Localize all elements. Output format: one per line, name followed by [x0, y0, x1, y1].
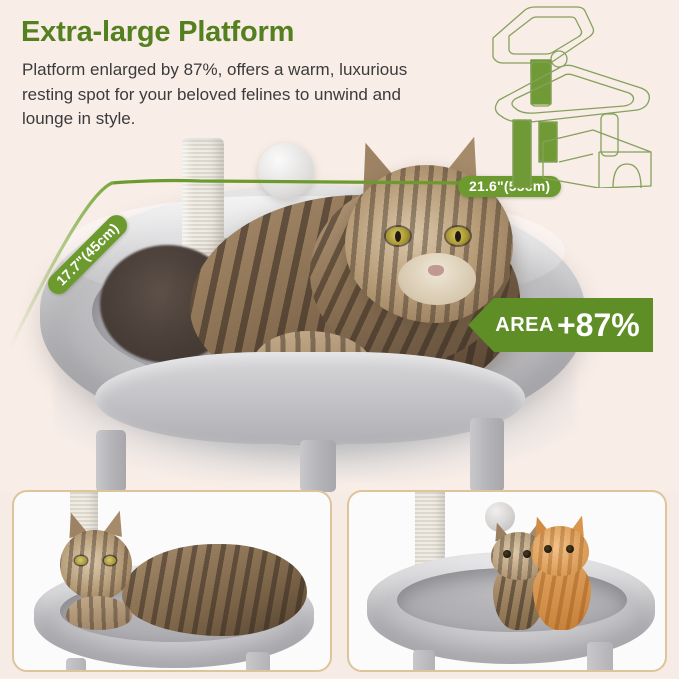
- area-badge-prefix: AREA: [495, 314, 554, 337]
- page-title: Extra-large Platform: [21, 16, 294, 49]
- cat-head: [60, 530, 132, 600]
- cat-eye-right: [104, 556, 116, 565]
- cat-nose: [428, 265, 444, 276]
- cat-muzzle: [398, 253, 476, 305]
- kitten-eye-right: [566, 545, 574, 553]
- gallery-panel-right[interactable]: [347, 490, 667, 672]
- hero-image: 21.6"(55cm) 17.7"(45cm) AREA +87% Extra-…: [0, 0, 679, 492]
- bed-support-leg: [96, 430, 126, 492]
- area-badge-percent: +87%: [557, 309, 640, 341]
- cat-eye-left: [386, 227, 410, 245]
- kitten-head: [531, 526, 589, 576]
- bed-support-leg: [470, 418, 504, 492]
- bed-support-leg: [246, 652, 270, 672]
- area-increase-badge: AREA +87%: [468, 298, 653, 352]
- bed-support-leg: [413, 650, 435, 672]
- kitten-eye-left: [503, 550, 511, 558]
- bed-support-leg: [300, 440, 336, 492]
- cat-eye-right: [446, 227, 470, 245]
- cat-eye-left: [75, 556, 87, 565]
- cat-tree-line-diagram-icon: [473, 2, 673, 188]
- cat-body: [122, 544, 307, 636]
- plush-bed-front-lip: [95, 352, 525, 444]
- page-subcopy: Platform enlarged by 87%, offers a warm,…: [22, 58, 442, 132]
- kitten-eye-left: [544, 545, 552, 553]
- kitten-ginger: [529, 520, 593, 636]
- gallery-panel-left[interactable]: [12, 490, 332, 672]
- bed-support-leg: [587, 642, 613, 672]
- bed-support-leg: [66, 658, 86, 672]
